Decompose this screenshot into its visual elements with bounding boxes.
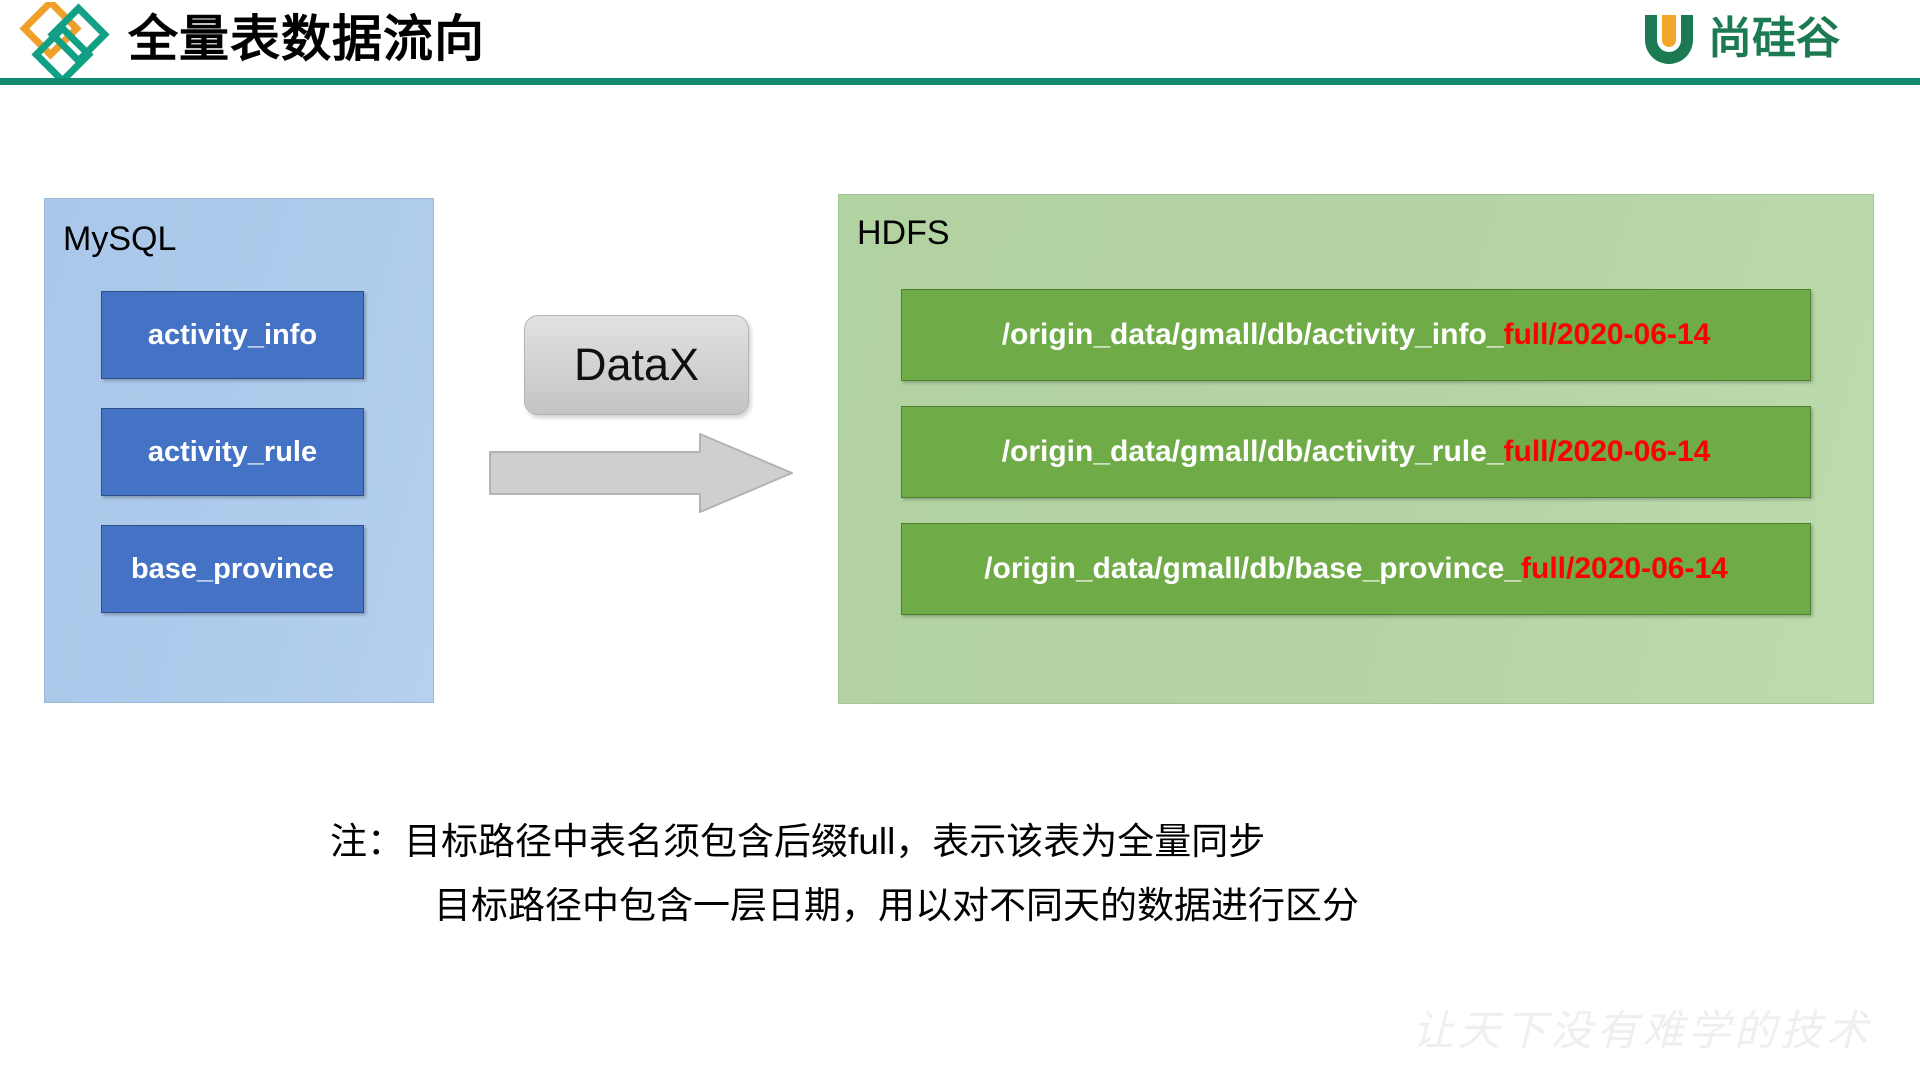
note-line: 注：目标路径中表名须包含后缀full，表示该表为全量同步	[330, 810, 1670, 874]
hdfs-path-prefix: /origin_data/gmall/db/activity_rule_	[1002, 435, 1504, 469]
hdfs-path-suffix: full	[1503, 318, 1548, 352]
watermark-text: 让天下没有难学的技术	[1412, 997, 1872, 1058]
hdfs-path-suffix: full	[1521, 552, 1566, 586]
table-row: activity_info	[101, 291, 364, 379]
diamond-logo-icon	[6, 2, 116, 82]
hdfs-path-date: /2020-06-14	[1549, 435, 1711, 469]
hdfs-path-prefix: /origin_data/gmall/db/base_province_	[984, 552, 1521, 586]
atguigu-u-mark-icon	[1640, 10, 1698, 68]
table-row: activity_rule	[101, 408, 364, 496]
flow-arrow-right-icon	[488, 432, 794, 514]
list-item: /origin_data/gmall/db/base_province_full…	[901, 523, 1811, 615]
hdfs-target-panel: HDFS /origin_data/gmall/db/activity_info…	[838, 194, 1874, 704]
brand-name: 尚硅谷	[1708, 10, 1840, 68]
hdfs-path-date: /2020-06-14	[1566, 552, 1728, 586]
datax-tool-box: DataX	[524, 315, 749, 415]
brand-logo: 尚硅谷	[1640, 8, 1880, 70]
note-block: 注：目标路径中表名须包含后缀full，表示该表为全量同步 目标路径中包含一层日期…	[330, 810, 1670, 938]
mysql-panel-label: MySQL	[63, 219, 176, 259]
hdfs-path-prefix: /origin_data/gmall/db/activity_info_	[1002, 318, 1504, 352]
header-divider	[0, 78, 1920, 85]
hdfs-path-date: /2020-06-14	[1548, 318, 1710, 352]
hdfs-path-suffix: full	[1504, 435, 1549, 469]
slide-header: 全量表数据流向 尚硅谷	[0, 0, 1920, 84]
table-row: base_province	[101, 525, 364, 613]
mysql-source-panel: MySQL activity_info activity_rule base_p…	[44, 198, 434, 703]
page-title: 全量表数据流向	[128, 8, 485, 70]
hdfs-panel-label: HDFS	[857, 213, 950, 253]
note-line: 目标路径中包含一层日期，用以对不同天的数据进行区分	[330, 874, 1670, 938]
list-item: /origin_data/gmall/db/activity_info_full…	[901, 289, 1811, 381]
list-item: /origin_data/gmall/db/activity_rule_full…	[901, 406, 1811, 498]
